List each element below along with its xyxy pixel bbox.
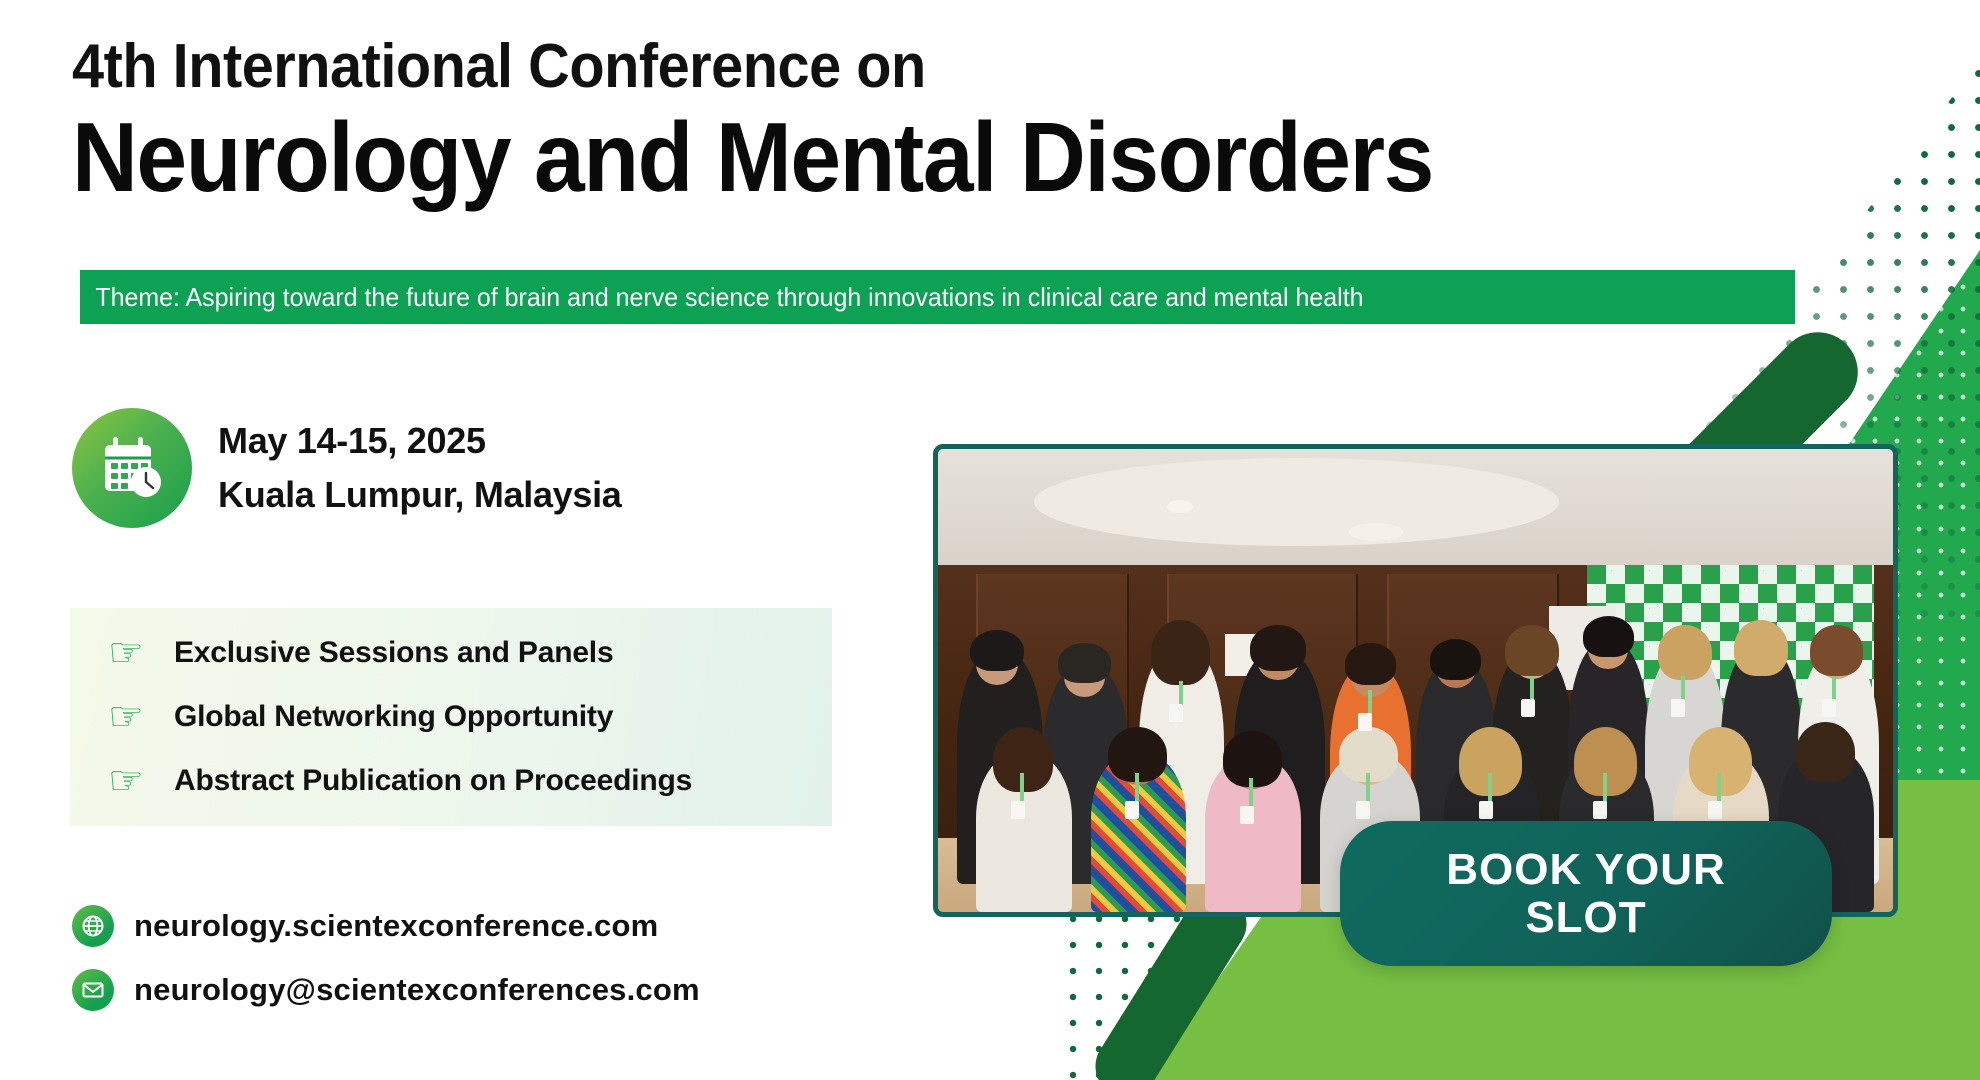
contact-list: neurology.scientexconference.com neurolo…	[72, 905, 700, 1011]
pointing-hand-icon: ☞	[108, 697, 152, 737]
pointing-hand-icon: ☞	[108, 633, 152, 673]
event-dates: May 14-15, 2025	[218, 420, 622, 462]
book-your-slot-button[interactable]: BOOK YOUR SLOT	[1340, 821, 1832, 966]
conference-banner: 4th International Conference on Neurolog…	[0, 0, 1980, 1080]
features-panel: ☞ Exclusive Sessions and Panels ☞ Global…	[70, 608, 832, 826]
page-title: 4th International Conference on Neurolog…	[72, 34, 1802, 211]
email-link[interactable]: neurology@scientexconferences.com	[72, 969, 700, 1011]
pointing-hand-icon: ☞	[108, 761, 152, 801]
envelope-icon	[72, 969, 114, 1011]
calendar-clock-icon	[72, 408, 192, 528]
website-link[interactable]: neurology.scientexconference.com	[72, 905, 700, 947]
website-text: neurology.scientexconference.com	[134, 908, 658, 944]
theme-text: Theme: Aspiring toward the future of bra…	[80, 282, 1364, 313]
list-item: ☞ Global Networking Opportunity	[108, 697, 832, 737]
cta-line-2: SLOT	[1525, 894, 1646, 942]
feature-label: Abstract Publication on Proceedings	[174, 764, 692, 798]
cta-line-1: BOOK YOUR	[1446, 846, 1726, 894]
email-text: neurology@scientexconferences.com	[134, 972, 700, 1008]
event-details: May 14-15, 2025 Kuala Lumpur, Malaysia	[72, 408, 622, 528]
globe-icon	[72, 905, 114, 947]
title-line-1: 4th International Conference on	[72, 34, 1681, 99]
theme-banner: Theme: Aspiring toward the future of bra…	[80, 270, 1795, 324]
list-item: ☞ Abstract Publication on Proceedings	[108, 761, 832, 801]
event-location: Kuala Lumpur, Malaysia	[218, 474, 622, 516]
feature-label: Exclusive Sessions and Panels	[174, 636, 613, 670]
title-line-2: Neurology and Mental Disorders	[72, 105, 1681, 211]
feature-label: Global Networking Opportunity	[174, 700, 613, 734]
list-item: ☞ Exclusive Sessions and Panels	[108, 633, 832, 673]
